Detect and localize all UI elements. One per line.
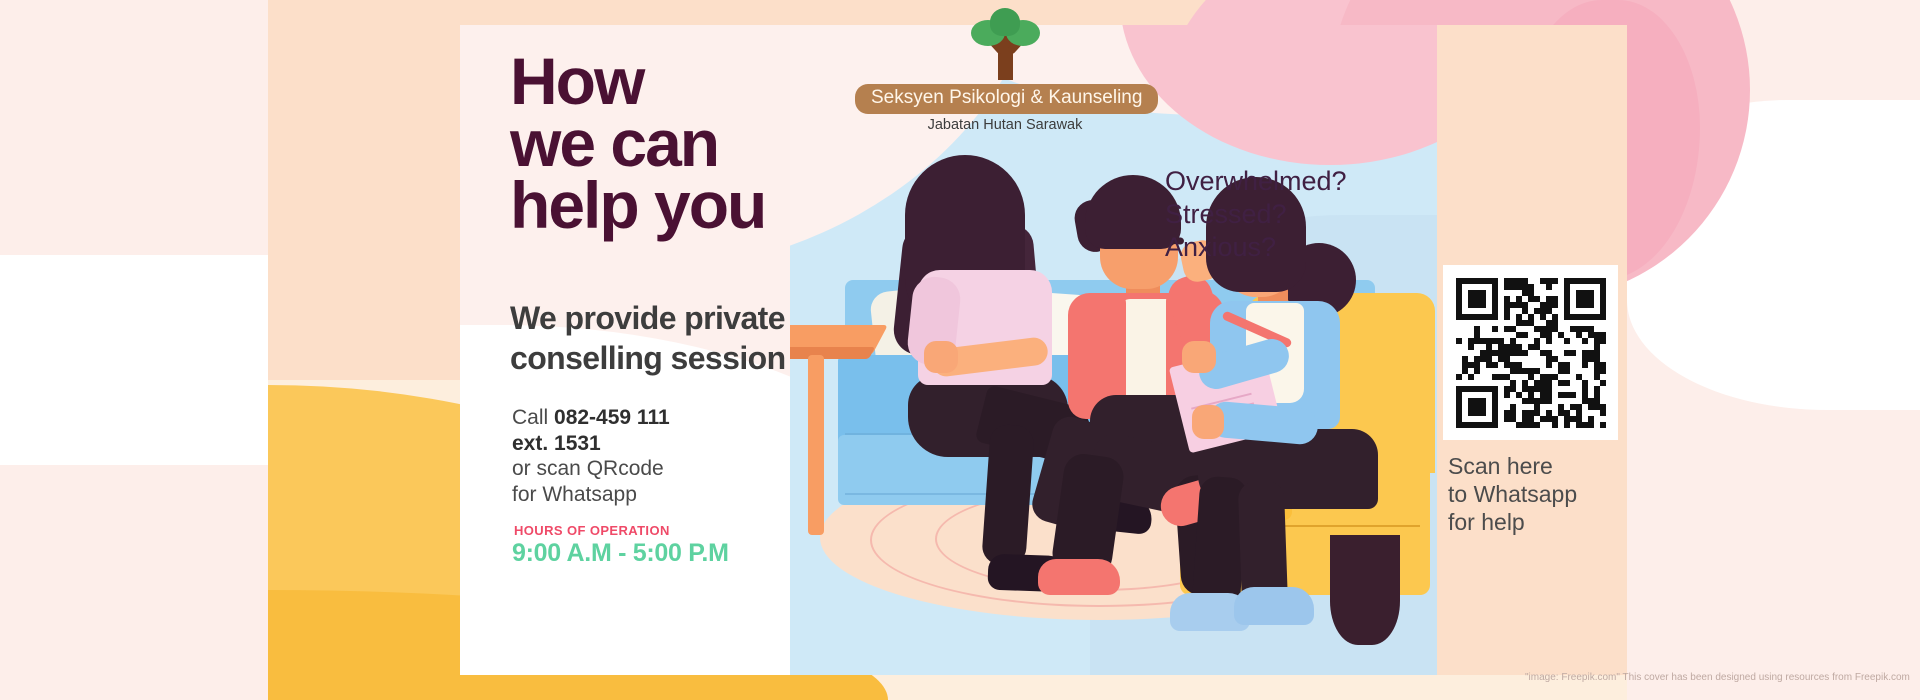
question-2: Stressed?	[1165, 198, 1347, 231]
armchair-shadow	[1330, 535, 1400, 645]
headline-line-3: help you	[510, 174, 765, 236]
poster-canvas: How we can help you We provide private c…	[0, 0, 1920, 700]
question-1: Overwhelmed?	[1165, 165, 1347, 198]
call-label: Call	[512, 406, 554, 429]
phone-number[interactable]: 082-459 111	[554, 406, 670, 429]
page-title: How we can help you	[510, 50, 765, 236]
contact-line-4: for Whatsapp	[512, 482, 670, 508]
contact-block: Call 082-459 111 ext. 1531 or scan QRcod…	[512, 405, 670, 507]
subheadline-line-1: We provide private	[510, 298, 786, 338]
contact-line-3: or scan QRcode	[512, 456, 670, 482]
qr-caption-line-3: for help	[1448, 508, 1577, 536]
question-block: Overwhelmed? Stressed? Anxious?	[1165, 165, 1347, 264]
qr-caption-line-2: to Whatsapp	[1448, 480, 1577, 508]
department-name: Jabatan Hutan Sarawak	[855, 117, 1155, 133]
headline-line-1: How	[510, 50, 765, 112]
counsellor-shoe-right	[1234, 587, 1314, 625]
hours-value: 9:00 A.M - 5:00 P.M	[512, 539, 729, 568]
tree-icon	[970, 8, 1040, 80]
organisation-name: Seksyen Psikologi & Kaunseling	[855, 84, 1158, 114]
contact-call-line: Call 082-459 111	[512, 405, 670, 431]
image-credit: "image: Freepik.com" This cover has been…	[1525, 672, 1910, 683]
subheadline-line-2: conselling session	[510, 338, 786, 378]
question-3: Anxious?	[1165, 231, 1347, 264]
sofa-leg-left	[808, 355, 824, 535]
qr-caption: Scan here to Whatsapp for help	[1448, 452, 1577, 536]
phone-extension: ext. 1531	[512, 432, 601, 455]
organisation-logo: Seksyen Psikologi & Kaunseling Jabatan H…	[855, 8, 1155, 133]
woman-hand	[924, 341, 958, 373]
qr-code-matrix	[1456, 278, 1606, 428]
subheadline: We provide private conselling session	[510, 298, 786, 379]
qr-code-icon[interactable]	[1443, 265, 1618, 440]
qr-caption-line-1: Scan here	[1448, 452, 1577, 480]
hours-label: HOURS OF OPERATION	[514, 523, 670, 538]
sofa-arm-left-edge	[790, 347, 875, 359]
tree-canopy-top	[990, 8, 1020, 36]
counsellor-writing-hand	[1182, 341, 1216, 373]
headline-line-2: we can	[510, 112, 765, 174]
man-shoe-floor	[1038, 559, 1120, 595]
counsellor-hand-holding-board	[1192, 405, 1224, 439]
